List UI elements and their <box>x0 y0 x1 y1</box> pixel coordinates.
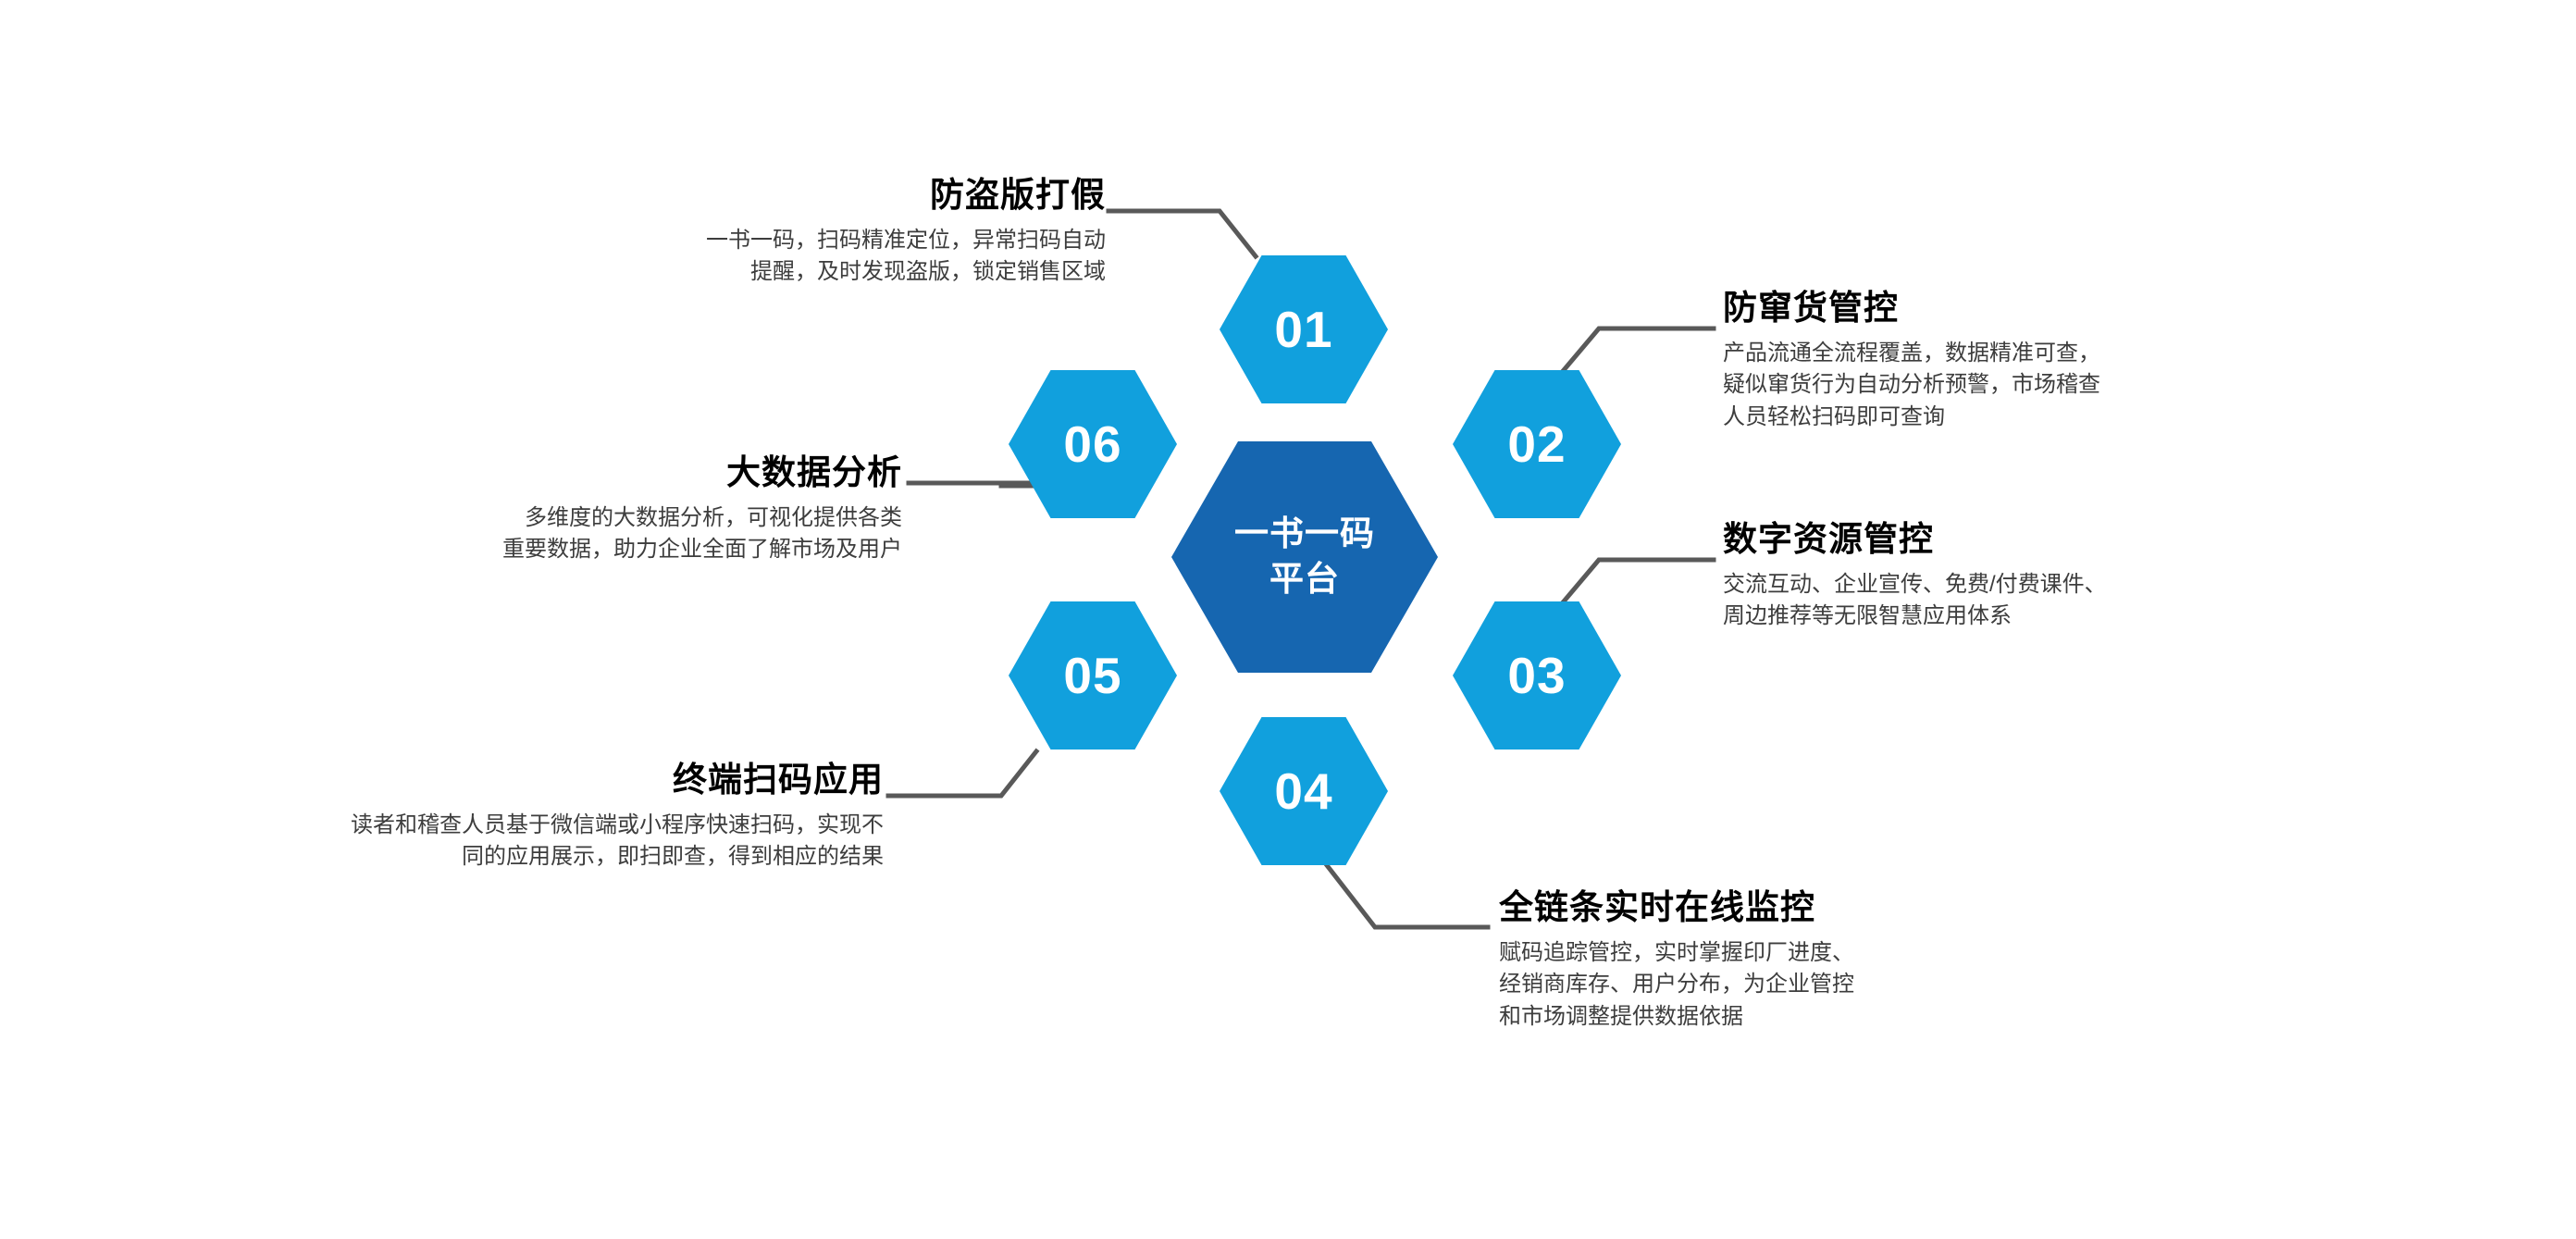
hexagon-02-number: 02 <box>1507 419 1566 470</box>
hexagon-02[interactable]: 02 <box>1453 370 1621 518</box>
hexagon-03-number: 03 <box>1507 650 1566 701</box>
node-04-description: 赋码追踪管控，实时掌握印厂进度、 经销商库存、用户分布，为企业管控 和市场调整提… <box>1499 937 2147 1034</box>
connector-04 <box>1323 861 1488 927</box>
node-05-headline: 终端扫码应用 <box>185 761 884 800</box>
node-05-text: 终端扫码应用 读者和稽查人员基于微信端或小程序快速扫码，实现不 同的应用展示，即… <box>185 761 884 873</box>
hexagon-01[interactable]: 01 <box>1220 255 1388 403</box>
node-02-headline: 防窜货管控 <box>1723 289 2315 328</box>
node-04-text: 全链条实时在线监控 赋码追踪管控，实时掌握印厂进度、 经销商库存、用户分布，为企… <box>1499 888 2147 1034</box>
node-02-description: 产品流通全流程覆盖，数据精准可查， 疑似窜货行为自动分析预警，市场稽查 人员轻松… <box>1723 338 2315 434</box>
hexagon-05[interactable]: 05 <box>1009 601 1177 750</box>
node-06-headline: 大数据分析 <box>352 453 902 493</box>
hexagon-05-number: 05 <box>1063 650 1121 701</box>
hexagon-04[interactable]: 04 <box>1220 717 1388 865</box>
connector-01 <box>1108 211 1256 256</box>
node-02-text: 防窜货管控 产品流通全流程覆盖，数据精准可查， 疑似窜货行为自动分析预警，市场稽… <box>1723 289 2315 434</box>
node-06-description: 多维度的大数据分析，可视化提供各类 重要数据，助力企业全面了解市场及用户 <box>352 502 902 567</box>
node-01-text: 防盗版打假 一书一码，扫码精准定位，异常扫码自动 提醒，及时发现盗版，锁定销售区… <box>555 176 1106 289</box>
node-03-headline: 数字资源管控 <box>1723 520 2315 560</box>
connector-02 <box>1564 328 1714 370</box>
center-hexagon-line1: 一书一码 <box>1234 514 1375 552</box>
hexagon-04-number: 04 <box>1274 766 1332 817</box>
hexagon-01-number: 01 <box>1274 304 1332 355</box>
center-hexagon-label: 一书一码平台 <box>1234 512 1375 602</box>
hexagon-03[interactable]: 03 <box>1453 601 1621 750</box>
center-hexagon[interactable]: 一书一码平台 <box>1171 441 1438 673</box>
node-04-headline: 全链条实时在线监控 <box>1499 888 2147 928</box>
connector-05 <box>888 751 1036 796</box>
connector-03 <box>1564 560 1714 601</box>
hexagon-06-number: 06 <box>1063 419 1121 470</box>
hexagon-06[interactable]: 06 <box>1009 370 1177 518</box>
infographic-canvas: 一书一码平台 01 02 03 04 05 06 防盗版打假 一书一码，扫码精准… <box>0 0 2576 1239</box>
node-03-text: 数字资源管控 交流互动、企业宣传、免费/付费课件、 周边推荐等无限智慧应用体系 <box>1723 520 2315 633</box>
node-01-description: 一书一码，扫码精准定位，异常扫码自动 提醒，及时发现盗版，锁定销售区域 <box>555 225 1106 290</box>
node-01-headline: 防盗版打假 <box>555 176 1106 216</box>
center-hexagon-line2: 平台 <box>1269 560 1340 598</box>
node-03-description: 交流互动、企业宣传、免费/付费课件、 周边推荐等无限智慧应用体系 <box>1723 569 2315 634</box>
node-05-description: 读者和稽查人员基于微信端或小程序快速扫码，实现不 同的应用展示，即扫即查，得到相… <box>185 810 884 874</box>
node-06-text: 大数据分析 多维度的大数据分析，可视化提供各类 重要数据，助力企业全面了解市场及… <box>352 453 902 566</box>
